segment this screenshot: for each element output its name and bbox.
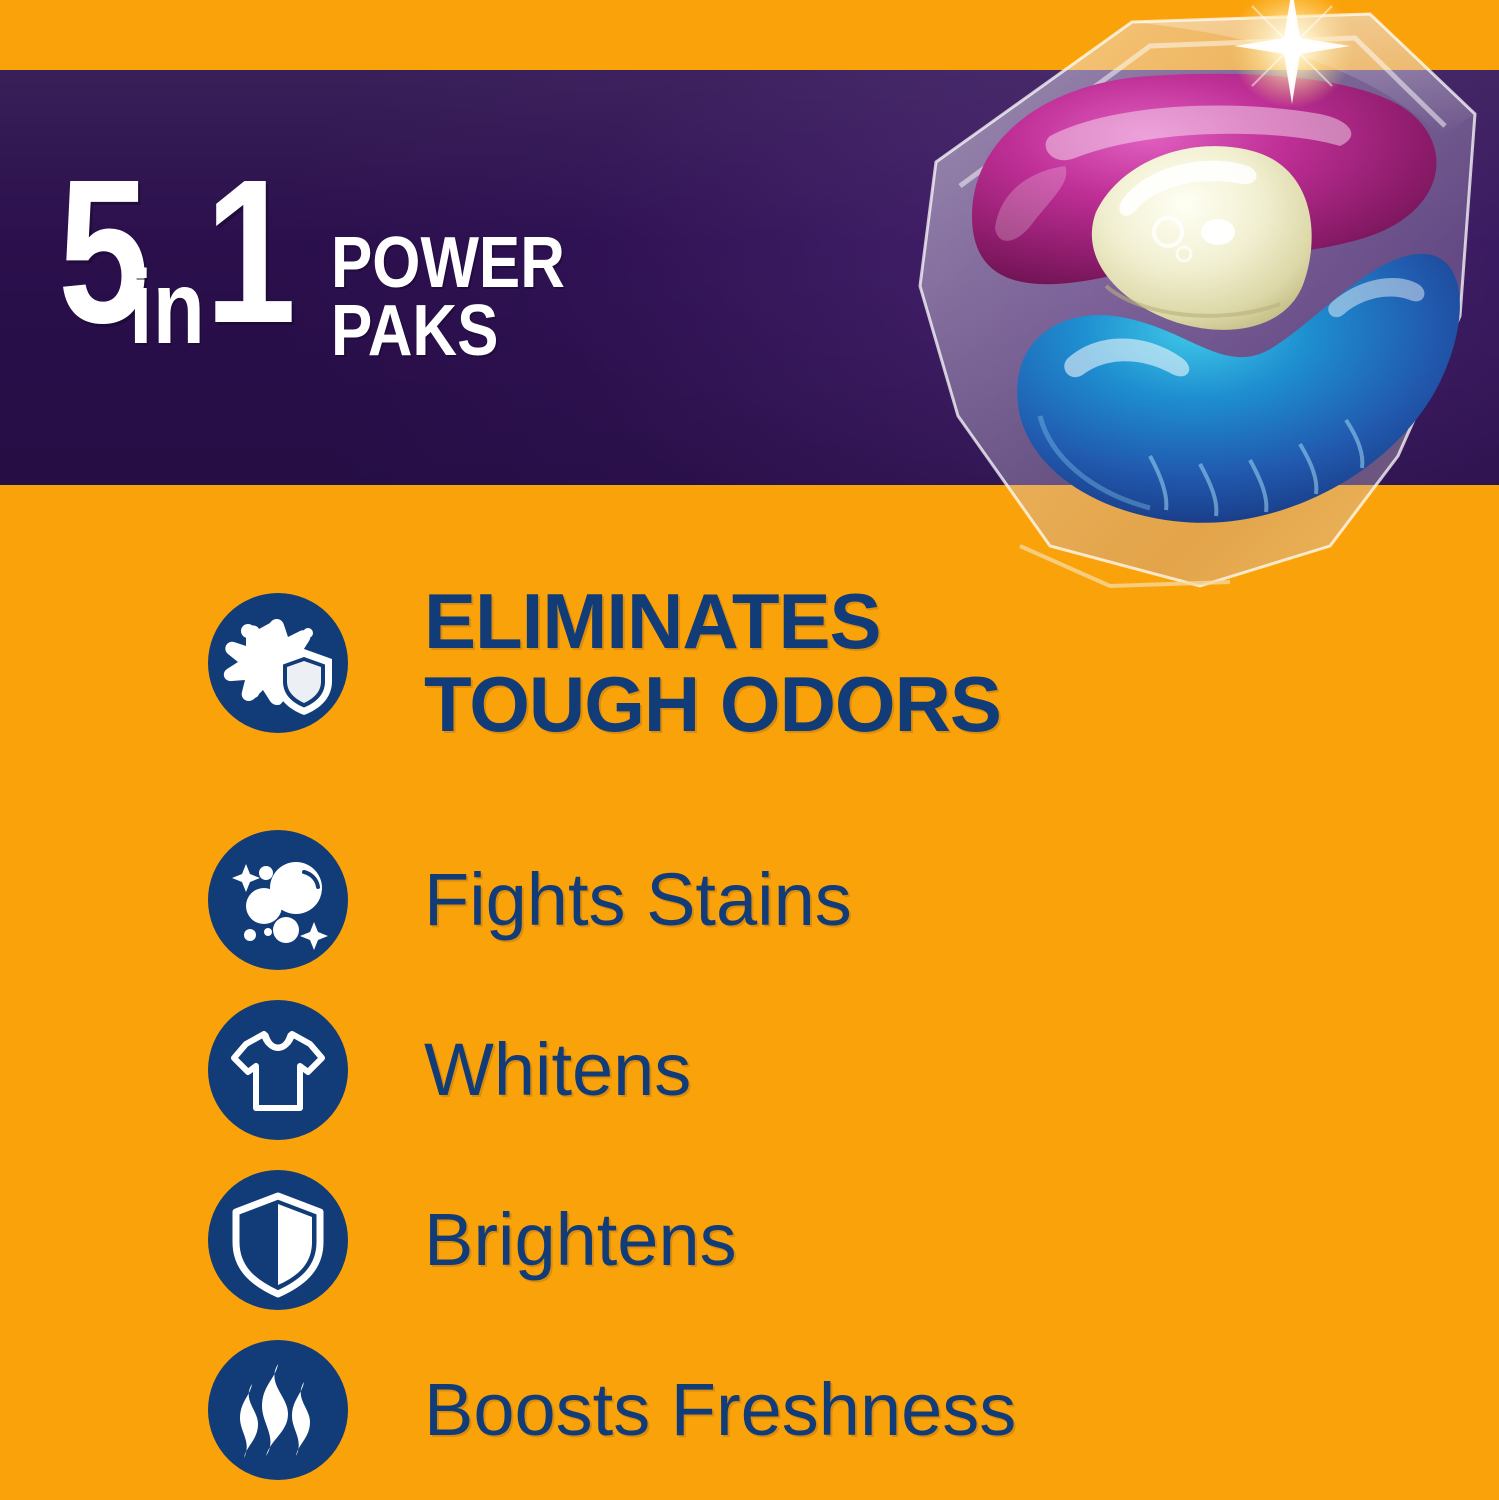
odor-shield-icon xyxy=(208,593,348,733)
benefit-row-eliminates-tough-odors: ELIMINATES TOUGH ODORS xyxy=(208,580,1001,747)
headline-power-paks: POWER PAKS xyxy=(331,230,565,365)
product-feature-graphic: 5 in 1 POWER PAKS xyxy=(0,0,1499,1500)
headline-number-1: 1 xyxy=(205,168,291,336)
headline-word-power: POWER xyxy=(331,230,565,298)
freshness-waves-icon xyxy=(208,1340,348,1480)
pod-illustration xyxy=(900,0,1499,646)
benefit-label-brightens: Brightens xyxy=(424,1202,737,1279)
benefit-label-fights-stains: Fights Stains xyxy=(424,862,852,939)
benefit-label-whitens: Whitens xyxy=(424,1032,691,1109)
benefit-row-brightens: Brightens xyxy=(208,1170,737,1310)
shield-icon xyxy=(208,1170,348,1310)
benefit-row-whitens: Whitens xyxy=(208,1000,691,1140)
headline-word-paks: PAKS xyxy=(331,298,565,366)
headline-word-in: in xyxy=(129,256,205,360)
bubbles-sparkle-icon xyxy=(208,830,348,970)
benefit-row-boosts-freshness: Boosts Freshness xyxy=(208,1340,1016,1480)
tshirt-icon xyxy=(208,1000,348,1140)
benefit-label-line1: ELIMINATES xyxy=(424,580,1001,663)
benefit-row-fights-stains: Fights Stains xyxy=(208,830,852,970)
headline-lockup: 5 in 1 POWER PAKS xyxy=(58,168,603,365)
benefit-label-eliminates-tough-odors: ELIMINATES TOUGH ODORS xyxy=(424,580,1001,747)
detergent-pod-image xyxy=(900,0,1499,646)
benefit-label-boosts-freshness: Boosts Freshness xyxy=(424,1372,1016,1449)
benefit-label-line2: TOUGH ODORS xyxy=(424,663,1001,746)
